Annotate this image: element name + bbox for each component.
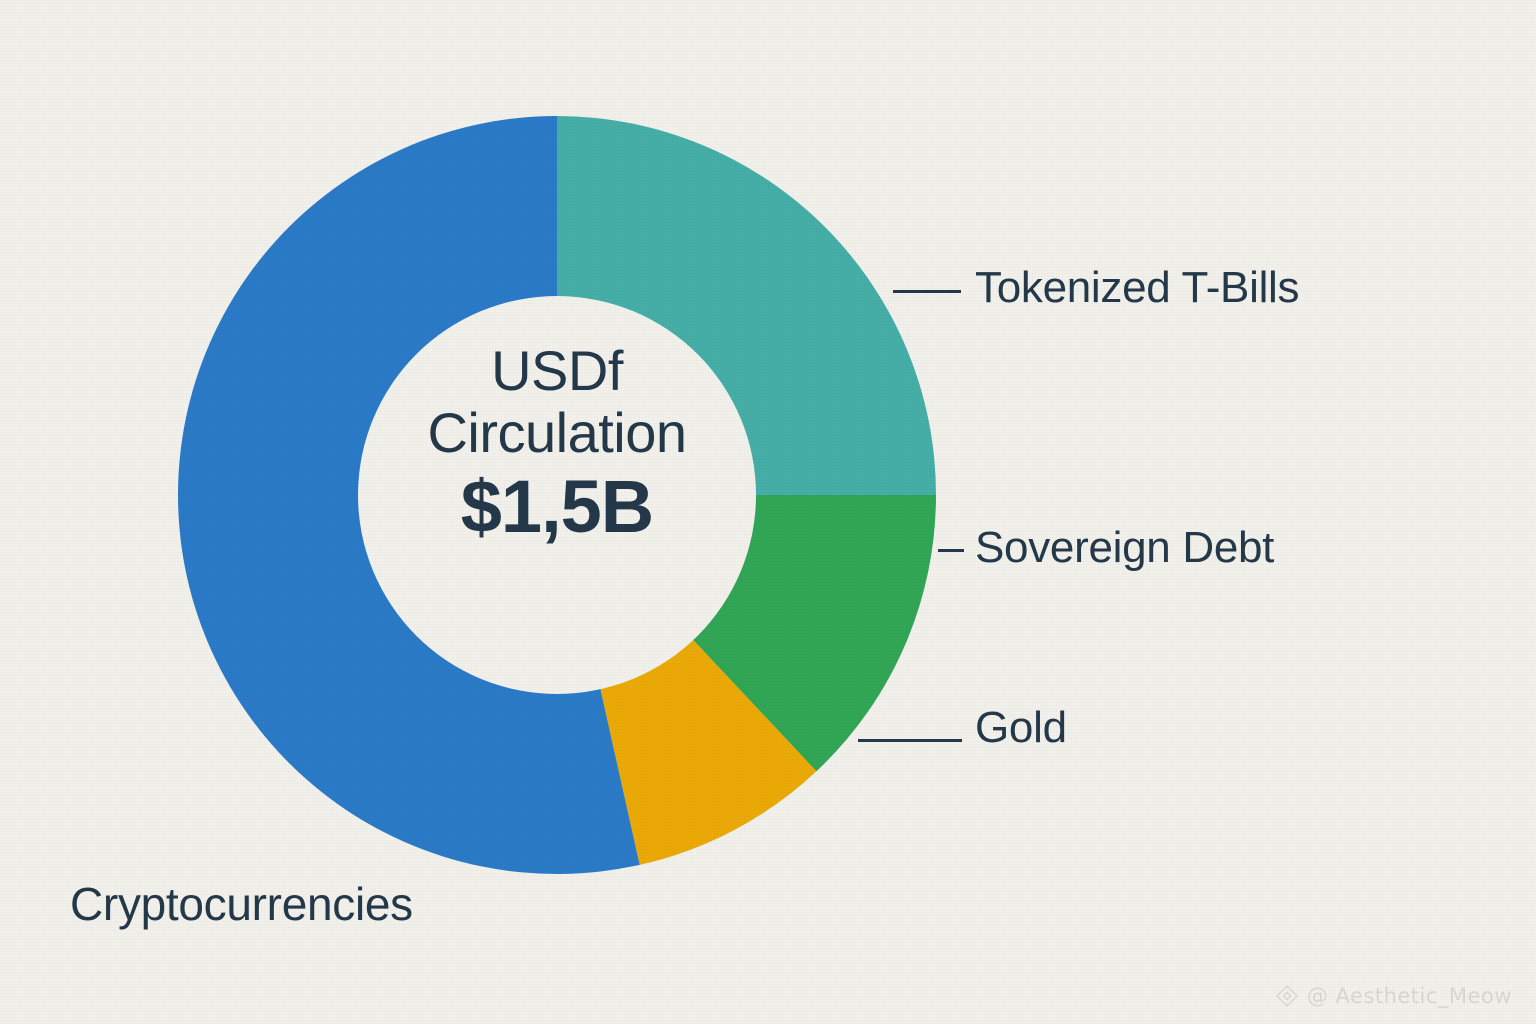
leader-line-gold xyxy=(858,739,962,742)
watermark-handle: @ Aesthetic_Meow xyxy=(1307,984,1512,1008)
slice-label-gold: Gold xyxy=(975,702,1067,754)
slice-label-sovereign-debt: Sovereign Debt xyxy=(975,522,1274,574)
leader-line-tokenized-tbills xyxy=(893,290,961,293)
chart-canvas: USDf Circulation $1,5B Tokenized T-Bills… xyxy=(0,0,1536,1024)
slice-label-cryptocurrencies: Cryptocurrencies xyxy=(70,878,413,930)
watermark: @ Aesthetic_Meow xyxy=(1275,984,1512,1008)
slice-label-tokenized-tbills: Tokenized T-Bills xyxy=(975,262,1299,314)
diamond-logo-icon xyxy=(1275,984,1299,1008)
donut-chart xyxy=(0,0,1536,1024)
leader-line-sovereign-debt xyxy=(938,549,964,552)
donut-hole xyxy=(358,296,756,694)
